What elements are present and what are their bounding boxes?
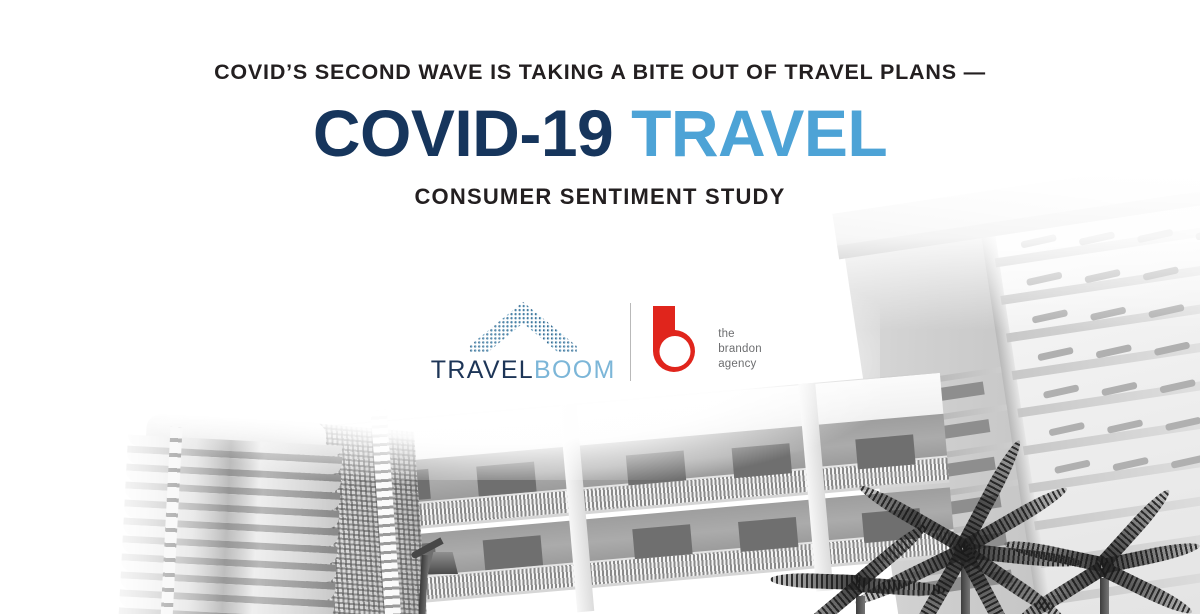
palm-trunk [1100, 578, 1109, 614]
travelboom-word-boom: BOOM [534, 356, 616, 384]
motel-window [483, 535, 543, 570]
motel-window [738, 517, 798, 552]
travelboom-wordmark: TRAVELBOOM [431, 358, 616, 383]
subtitle: CONSUMER SENTIMENT STUDY [0, 186, 1200, 208]
title-block: COVID’S SECOND WAVE IS TAKING A BITE OUT… [0, 62, 1200, 208]
title-travel: TRAVEL [631, 96, 887, 170]
brandon-agency-wordmark: the brandon agency [718, 327, 762, 377]
brandon-line-agency: agency [718, 357, 762, 372]
title-covid19: COVID-19 [313, 96, 613, 170]
brandon-line-brandon: brandon [718, 342, 762, 357]
brandon-line-the: the [718, 327, 762, 342]
logo-lockup: TRAVELBOOM the brandon agency [0, 300, 1200, 383]
brandon-agency-logo[interactable]: the brandon agency [653, 306, 762, 378]
travelboom-logo[interactable]: TRAVELBOOM [438, 300, 608, 383]
covid-travel-study-cover: COVID’S SECOND WAVE IS TAKING A BITE OUT… [0, 0, 1200, 614]
travelboom-chevron-halftone-icon [464, 300, 582, 352]
logo-divider [630, 303, 631, 381]
palm-trunk [856, 596, 865, 614]
travelboom-word-travel: TRAVEL [431, 356, 534, 384]
brandon-agency-b-icon [653, 306, 711, 378]
title-space [613, 96, 631, 170]
page-title: COVID-19 TRAVEL [0, 100, 1200, 166]
motel-window [632, 524, 692, 559]
eyebrow-headline: COVID’S SECOND WAVE IS TAKING A BITE OUT… [0, 62, 1200, 84]
